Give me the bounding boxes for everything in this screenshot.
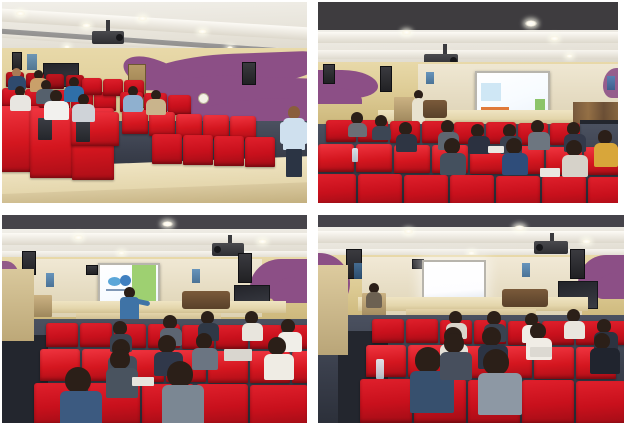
water-bottle <box>352 148 358 162</box>
photo-top-right-scene <box>318 2 618 203</box>
downlight <box>566 54 573 58</box>
downlight <box>582 239 591 244</box>
slide-element <box>108 277 121 286</box>
wall-speaker <box>323 64 335 84</box>
downlight <box>82 23 91 28</box>
ceiling-beam <box>318 231 624 243</box>
wall-panel <box>354 263 362 279</box>
slide-element <box>481 83 501 101</box>
seat <box>522 380 574 423</box>
wall-panel <box>426 72 434 84</box>
wall-panel <box>46 273 54 287</box>
downlight <box>198 29 207 34</box>
wall-speaker <box>242 62 256 85</box>
photo-bottom-right[interactable] <box>318 215 624 423</box>
seat-writing-tablet <box>540 168 560 177</box>
wall-clock <box>198 93 209 104</box>
seat <box>292 351 307 383</box>
seat <box>80 323 112 347</box>
seat <box>588 177 618 203</box>
side-sofa <box>182 291 230 309</box>
seat-writing-tablet <box>38 118 52 140</box>
photo-bottom-left-scene <box>2 215 307 423</box>
downlight <box>138 16 147 21</box>
downlight <box>550 36 559 41</box>
downlight <box>118 251 125 255</box>
projector-lens <box>116 34 123 41</box>
downlight <box>258 239 267 244</box>
wall-panel <box>607 76 615 90</box>
wall-speaker <box>86 265 98 275</box>
wall-speaker <box>570 249 585 279</box>
photo-bottom-right-scene <box>318 215 624 423</box>
seat <box>450 175 494 203</box>
wall-panel <box>27 54 37 70</box>
wall-panel <box>522 263 530 277</box>
seat <box>406 319 438 343</box>
podium <box>394 97 414 123</box>
ceiling-beam <box>318 32 618 43</box>
seat <box>318 174 356 203</box>
seat <box>366 345 406 377</box>
seat-writing-tablet <box>76 120 90 142</box>
podium <box>32 295 52 317</box>
wall-speaker <box>380 66 392 92</box>
seat <box>496 176 540 203</box>
downlight <box>404 229 413 234</box>
seat <box>576 381 624 423</box>
slide-element <box>120 275 131 286</box>
seat-writing-tablet <box>132 377 154 386</box>
photo-top-left-scene <box>2 2 307 203</box>
photo-top-left[interactable] <box>2 2 307 203</box>
seat <box>360 379 412 423</box>
seat <box>82 78 102 95</box>
side-wall <box>2 269 34 341</box>
seat <box>372 319 404 343</box>
seat <box>356 144 392 172</box>
seat-writing-tablet <box>224 349 252 361</box>
seat <box>318 144 354 172</box>
side-sofa <box>502 289 548 307</box>
seat <box>122 110 148 134</box>
projector-mount <box>443 44 447 54</box>
side-chair <box>423 100 447 118</box>
seat <box>404 175 448 203</box>
photo-collage <box>0 0 628 425</box>
water-bottle <box>376 359 384 379</box>
downlight <box>16 11 25 16</box>
downlight <box>525 20 537 27</box>
screen-content <box>424 262 484 302</box>
seat <box>149 112 175 136</box>
seat-writing-tablet <box>488 146 504 153</box>
photo-bottom-left[interactable] <box>2 215 307 423</box>
downlight <box>514 225 525 231</box>
wall-panel <box>192 269 200 283</box>
seat <box>542 176 586 203</box>
downlight <box>402 30 411 35</box>
downlight <box>162 221 173 227</box>
seat <box>152 134 182 164</box>
projector-lens <box>536 244 543 251</box>
wall-speaker <box>238 253 252 283</box>
photo-top-right[interactable] <box>318 2 618 203</box>
ceiling-beam <box>318 50 618 59</box>
seat <box>214 136 244 166</box>
seat <box>183 135 213 165</box>
seat <box>245 137 275 167</box>
side-wall <box>318 265 348 355</box>
seat <box>46 323 78 347</box>
seat <box>250 385 307 423</box>
projector-lens <box>214 246 221 253</box>
downlight <box>74 235 83 240</box>
seat <box>358 174 402 203</box>
seat-writing-tablet <box>530 347 552 357</box>
